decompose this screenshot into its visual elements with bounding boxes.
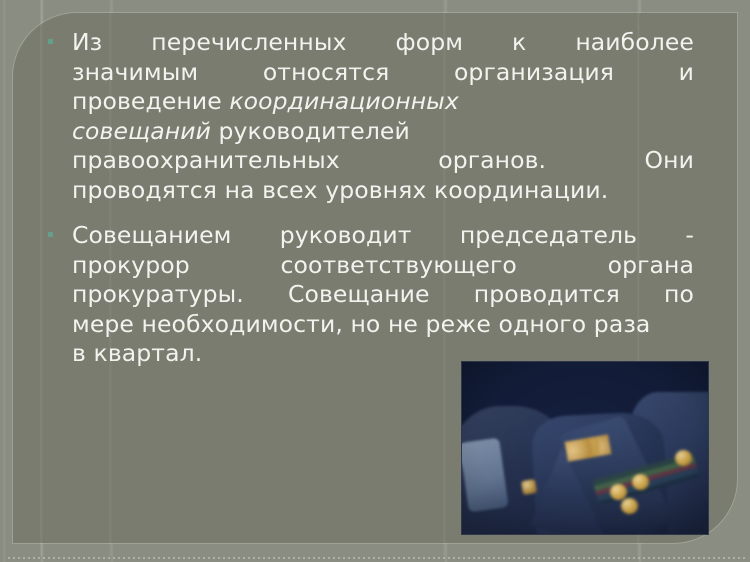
paragraph-1-line-4: совещаний руководителей — [72, 117, 694, 147]
paragraph-1-line-6: проводятся на всех уровнях координации. — [72, 176, 694, 206]
photo-medal-star — [675, 450, 692, 466]
paragraph-1-line-2: значимым относятся организация и — [72, 58, 694, 88]
paragraph-1-line-1: Из перечисленных форм к наиболее — [72, 28, 694, 58]
photo-medal-star — [621, 498, 638, 514]
square-bullet-icon — [48, 232, 53, 237]
photo-medal-star — [632, 474, 649, 490]
paragraph-2-line-4: мере необходимости, но не реже одного ра… — [72, 310, 694, 340]
paragraph-2-line-2: прокурор соответствующего органа — [72, 251, 694, 281]
bullet-paragraph-1: Из перечисленных форм к наиболее значимы… — [46, 28, 694, 205]
paragraph-1-line-3-italic: координационных — [229, 87, 459, 115]
square-bullet-icon — [48, 39, 53, 44]
paragraph-1-line-3-roman: проведение — [72, 87, 229, 115]
prosecutors-in-blue-uniform-photo — [462, 362, 708, 534]
paragraph-1-line-4-roman: руководителей — [211, 117, 410, 145]
bullet-paragraph-2: Совещанием руководит председатель - прок… — [46, 221, 694, 369]
bottom-dotted-rule — [8, 557, 746, 559]
paragraph-1-line-5: правоохранительных органов. Они — [72, 146, 694, 176]
paragraph-2-line-3: прокуратуры. Совещание проводится по — [72, 280, 694, 310]
slide: Из перечисленных форм к наиболее значимы… — [0, 0, 750, 562]
photo-chest-badge — [521, 479, 537, 495]
paragraph-1-line-4-italic: совещаний — [72, 117, 211, 145]
slide-body-text: Из перечисленных форм к наиболее значимы… — [46, 28, 694, 369]
paragraph-1-line-3: проведение координационных — [72, 87, 694, 117]
paragraph-2-line-1: Совещанием руководит председатель - — [72, 221, 694, 251]
photo-medal-star — [610, 484, 627, 500]
